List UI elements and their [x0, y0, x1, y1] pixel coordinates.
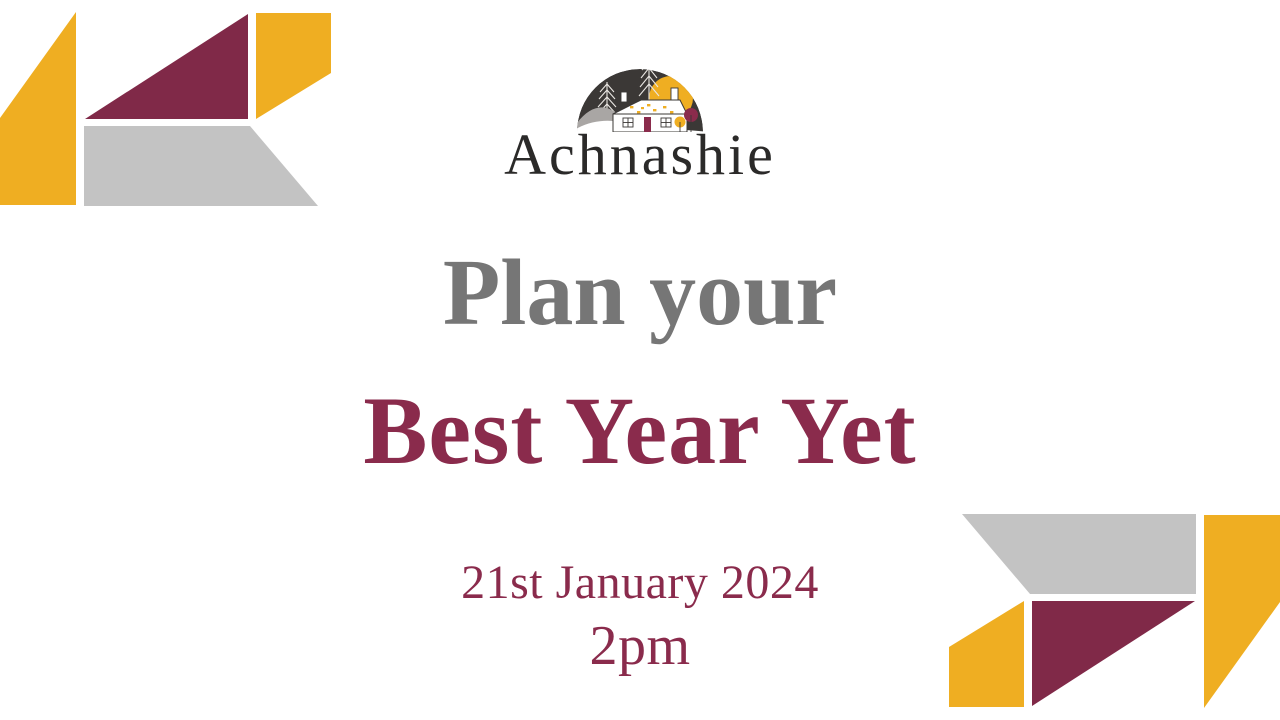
event-details-block: 21st January 2024 2pm — [0, 556, 1280, 677]
event-time: 2pm — [0, 616, 1280, 678]
brand-logo-lockup: Achnashie — [0, 36, 1280, 184]
headline-block: Plan your Best Year Yet — [0, 244, 1280, 481]
cottage-in-circle-logo-icon — [575, 36, 705, 132]
headline-line-secondary: Best Year Yet — [0, 380, 1280, 482]
brand-wordmark: Achnashie — [504, 126, 776, 184]
headline-line-primary: Plan your — [0, 244, 1280, 344]
event-date: 21st January 2024 — [0, 556, 1280, 610]
event-poster-slide: Achnashie Plan your Best Year Yet 21st J… — [0, 0, 1280, 720]
